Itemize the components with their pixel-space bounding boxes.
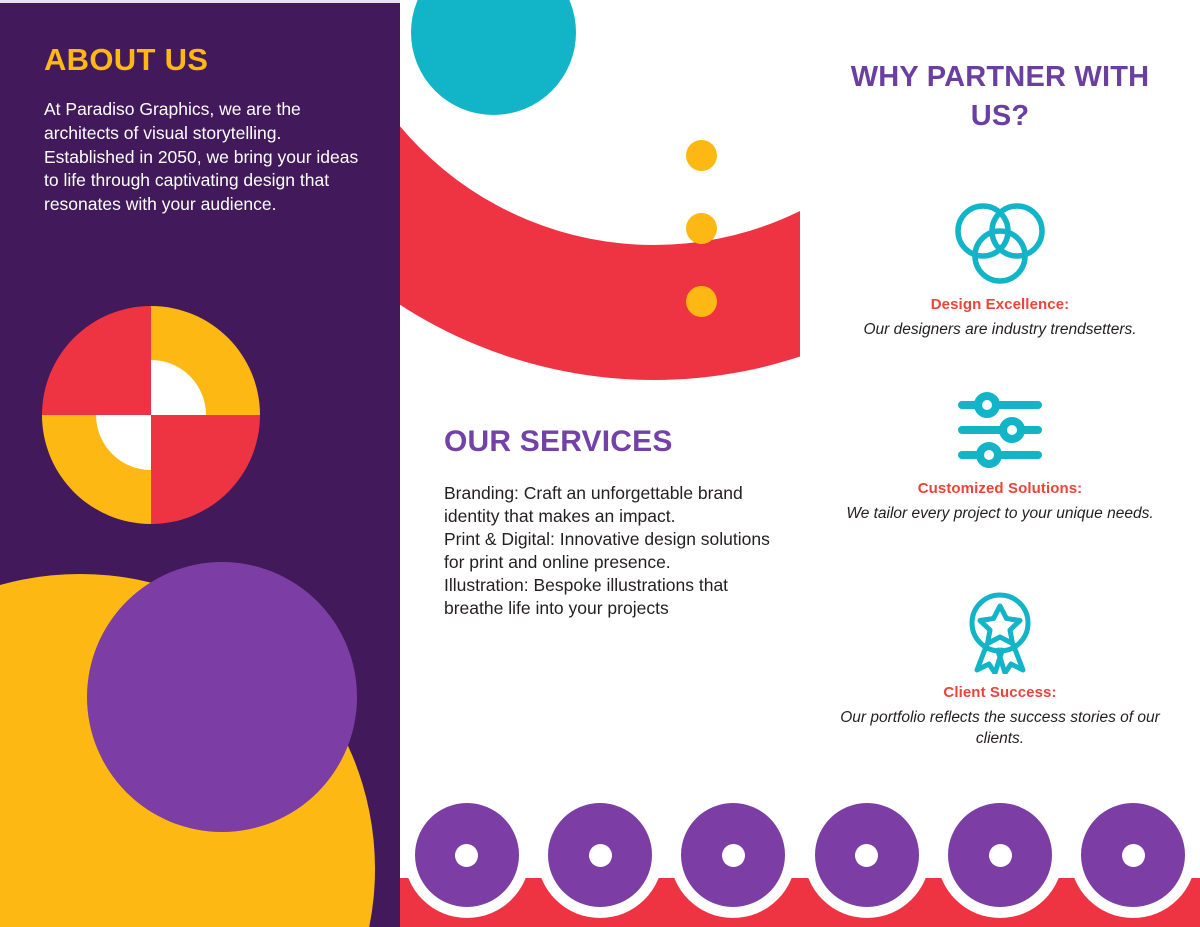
award-ribbon-star-icon — [825, 592, 1175, 674]
service-item-branding: Branding: Craft an unforgettable brand i… — [444, 482, 784, 528]
purple-circle-graphic — [87, 562, 357, 832]
feature-title: Customized Solutions: — [825, 480, 1175, 497]
services-title: OUR SERVICES — [444, 425, 784, 459]
quadrant-circle-graphic — [42, 306, 260, 524]
about-title: ABOUT US — [44, 42, 360, 78]
bottom-donut-hole — [722, 844, 745, 867]
panel-top-edge — [0, 0, 400, 3]
bottom-donut-hole — [589, 844, 612, 867]
services-block: OUR SERVICES Branding: Craft an unforget… — [444, 425, 784, 621]
why-partner-panel: WHY PARTNER WITH US? Design Excellence: … — [800, 0, 1200, 927]
yellow-dot-2 — [686, 213, 717, 244]
feature-title: Design Excellence: — [825, 296, 1175, 313]
feature-title: Client Success: — [825, 684, 1175, 701]
why-partner-title: WHY PARTNER WITH US? — [830, 58, 1170, 135]
bottom-donut-hole — [855, 844, 878, 867]
feature-client-success: Client Success: Our portfolio reflects t… — [825, 592, 1175, 750]
yellow-dot-1 — [686, 140, 717, 171]
venn-three-circles-icon — [825, 198, 1175, 286]
feature-description: Our portfolio reflects the success stori… — [825, 708, 1175, 750]
feature-design-excellence: Design Excellence: Our designers are ind… — [825, 198, 1175, 341]
bottom-donut-hole — [989, 844, 1012, 867]
about-panel: ABOUT US At Paradiso Graphics, we are th… — [0, 0, 400, 927]
service-item-illustration: Illustration: Bespoke illustrations that… — [444, 574, 784, 620]
service-item-print-digital: Print & Digital: Innovative design solut… — [444, 528, 784, 574]
about-block: ABOUT US At Paradiso Graphics, we are th… — [44, 42, 360, 217]
feature-customized-solutions: Customized Solutions: We tailor every pr… — [825, 390, 1175, 525]
services-panel: OUR SERVICES Branding: Craft an unforget… — [400, 0, 800, 927]
yellow-dot-3 — [686, 286, 717, 317]
about-body: At Paradiso Graphics, we are the archite… — [44, 98, 360, 217]
bottom-donut-hole — [455, 844, 478, 867]
bottom-donut-hole — [1122, 844, 1145, 867]
feature-description: We tailor every project to your unique n… — [825, 504, 1175, 525]
sliders-settings-icon — [825, 390, 1175, 470]
feature-description: Our designers are industry trendsetters. — [825, 320, 1175, 341]
brochure-page: ABOUT US At Paradiso Graphics, we are th… — [0, 0, 1200, 927]
services-list: Branding: Craft an unforgettable brand i… — [444, 482, 784, 621]
